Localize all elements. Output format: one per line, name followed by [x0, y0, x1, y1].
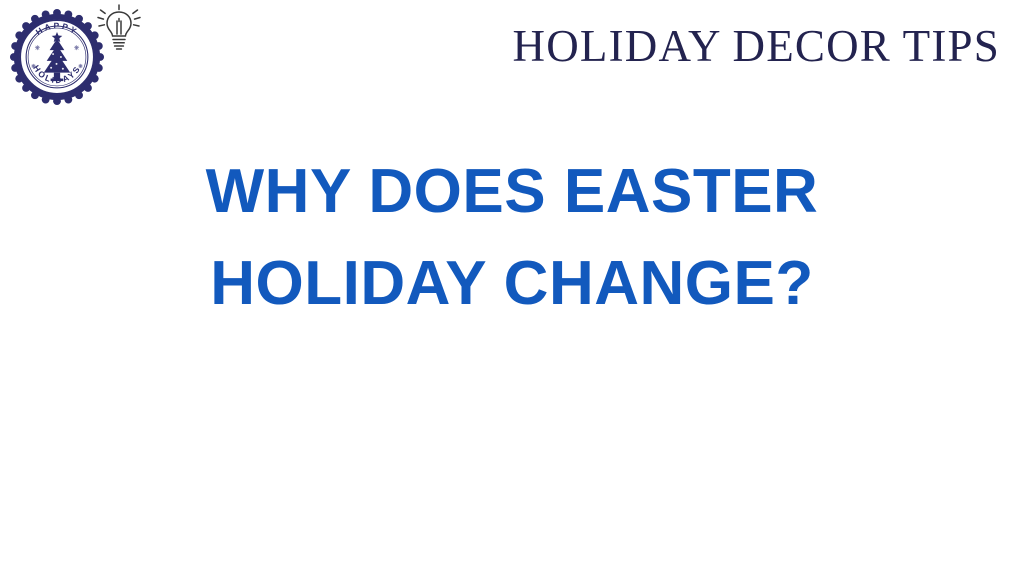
lightbulb-idea-icon — [92, 2, 146, 56]
headline-line-1: WHY DOES EASTER — [0, 146, 1024, 238]
headline-block: WHY DOES EASTER HOLIDAY CHANGE? — [0, 146, 1024, 330]
headline-line-2: HOLIDAY CHANGE? — [0, 238, 1024, 330]
page-title: HOLIDAY DECOR TIPS — [513, 18, 1001, 74]
header-bar: HAPPY HOLIDAYS — [0, 0, 1024, 110]
slide-canvas: HAPPY HOLIDAYS — [0, 0, 1024, 576]
content-body-area — [0, 330, 1024, 576]
